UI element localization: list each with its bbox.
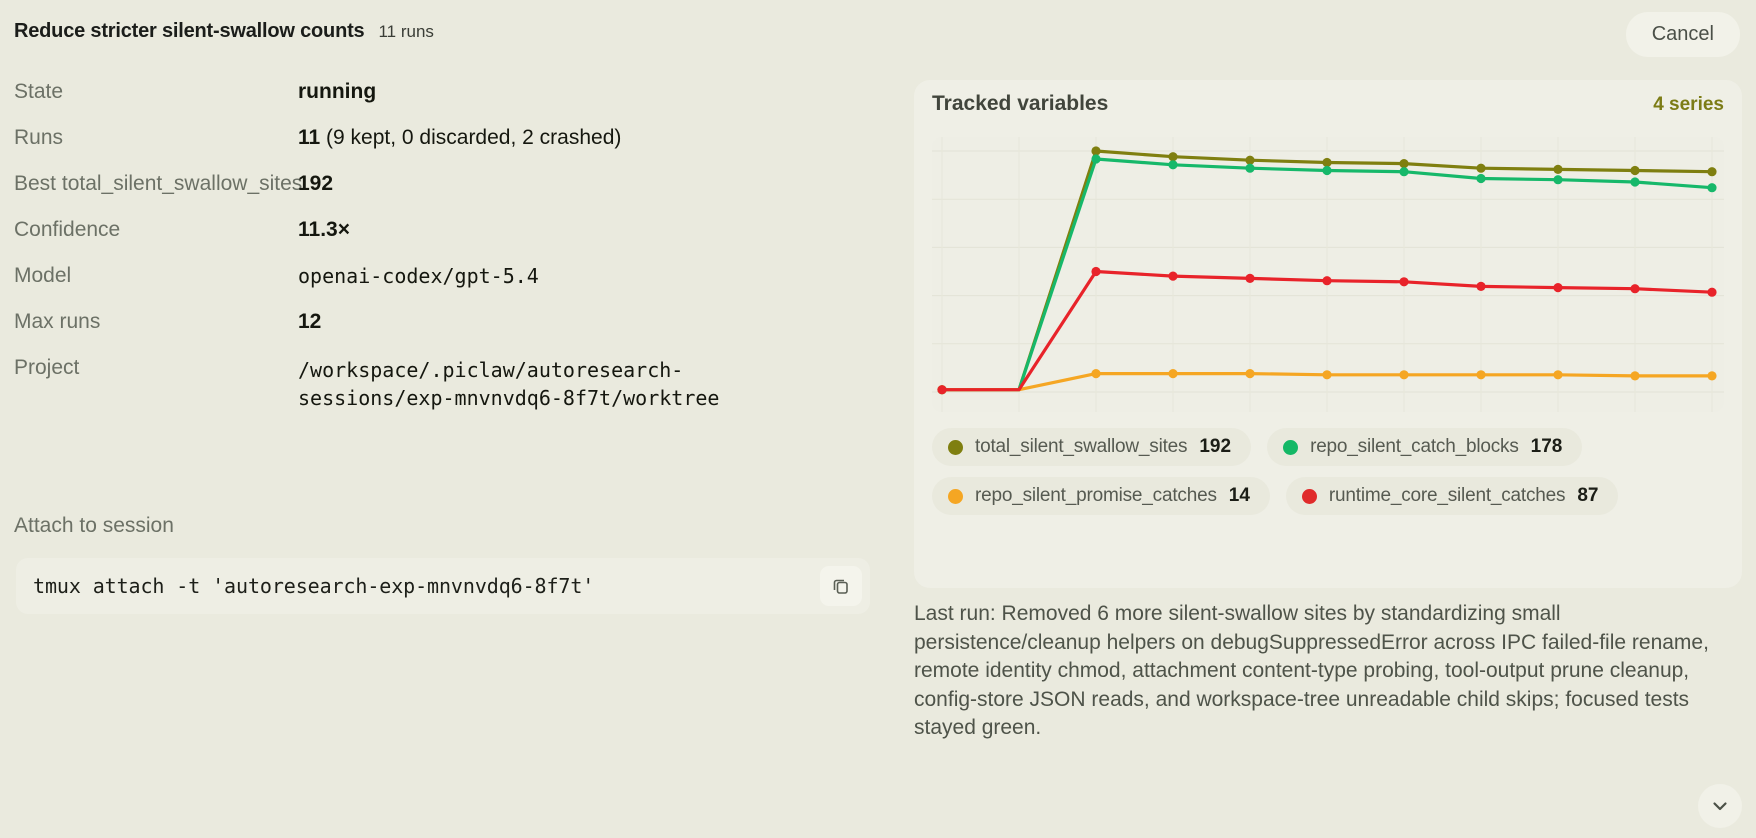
detail-row-model: Model openai-codex/gpt-5.4 [14, 264, 880, 310]
detail-value-max-runs: 12 [298, 310, 321, 334]
chart-point [1322, 370, 1331, 379]
legend-color-dot [1283, 440, 1298, 455]
chart-point [1399, 159, 1408, 168]
legend-color-dot [948, 489, 963, 504]
chart-point [1091, 146, 1100, 155]
chart-point [1630, 166, 1639, 175]
legend-chip[interactable]: total_silent_swallow_sites192 [932, 428, 1251, 466]
detail-key: Best total_silent_swallow_sites [14, 172, 302, 196]
chart-point [1476, 174, 1485, 183]
chart-point [1245, 164, 1254, 173]
detail-row-project: Project /workspace/.piclaw/autoresearch-… [14, 356, 880, 448]
chart-point [1553, 175, 1562, 184]
details-grid: State running Runs 11 (9 kept, 0 discard… [0, 80, 880, 448]
cancel-button[interactable]: Cancel [1626, 12, 1740, 57]
detail-key: Runs [14, 126, 63, 150]
detail-row-best-metric: Best total_silent_swallow_sites 192 [14, 172, 880, 218]
detail-value-project: /workspace/.piclaw/autoresearch-sessions… [298, 356, 798, 413]
legend-series-value: 87 [1577, 485, 1598, 507]
chart-header: Tracked variables 4 series [932, 92, 1724, 116]
detail-key: State [14, 80, 63, 104]
chart-point [1553, 283, 1562, 292]
chart-point [1322, 276, 1331, 285]
chart-point [1476, 164, 1485, 173]
chart-point [1399, 370, 1408, 379]
detail-key: Model [14, 264, 71, 288]
attach-command-box[interactable]: tmux attach -t 'autoresearch-exp-mnvnvdq… [16, 558, 870, 614]
detail-key: Max runs [14, 310, 100, 334]
chart-point [1399, 167, 1408, 176]
chart-point [1707, 288, 1716, 297]
chart-point [1707, 167, 1716, 176]
series-count-label: 4 series [1653, 94, 1724, 116]
chart-point [1091, 154, 1100, 163]
detail-row-max-runs: Max runs 12 [14, 310, 880, 356]
chart-point [1630, 284, 1639, 293]
detail-value-best-metric: 192 [298, 172, 333, 196]
attach-command-text: tmux attach -t 'autoresearch-exp-mnvnvdq… [16, 574, 594, 598]
chart-point [1245, 156, 1254, 165]
tracked-variables-card: Tracked variables 4 series total_silent_… [914, 80, 1742, 588]
run-count-badge: 11 runs [378, 22, 433, 42]
chart-legend: total_silent_swallow_sites192repo_silent… [932, 428, 1724, 515]
details-column: State running Runs 11 (9 kept, 0 discard… [0, 80, 880, 448]
legend-color-dot [1302, 489, 1317, 504]
page-title: Reduce stricter silent-swallow counts [14, 20, 364, 43]
chart-point [1707, 371, 1716, 380]
chart-point [1322, 158, 1331, 167]
legend-chip[interactable]: repo_silent_catch_blocks178 [1267, 428, 1582, 466]
attach-to-session-label: Attach to session [14, 514, 174, 538]
detail-value-state: running [298, 80, 376, 104]
chart-title: Tracked variables [932, 92, 1108, 116]
legend-chip[interactable]: repo_silent_promise_catches14 [932, 477, 1270, 515]
detail-row-runs: Runs 11 (9 kept, 0 discarded, 2 crashed) [14, 126, 880, 172]
detail-key: Confidence [14, 218, 120, 242]
experiment-detail-page: Reduce stricter silent-swallow counts 11… [0, 0, 1756, 838]
chart-point [1399, 277, 1408, 286]
chart-point [1322, 166, 1331, 175]
legend-series-name: runtime_core_silent_catches [1329, 485, 1565, 507]
chart-point [937, 385, 946, 394]
legend-series-name: repo_silent_catch_blocks [1310, 436, 1519, 458]
chart-svg [932, 137, 1724, 412]
chart-point [1168, 152, 1177, 161]
chart-point [1553, 165, 1562, 174]
legend-series-value: 178 [1531, 436, 1563, 458]
title-row: Reduce stricter silent-swallow counts 11… [14, 20, 434, 43]
detail-value-confidence: 11.3× [298, 218, 350, 242]
chart-point [1091, 369, 1100, 378]
runs-number: 11 [298, 126, 320, 149]
line-chart-plot[interactable] [932, 137, 1724, 412]
chart-point [1630, 177, 1639, 186]
legend-series-value: 192 [1199, 436, 1231, 458]
chart-point [1245, 274, 1254, 283]
chart-point [1630, 371, 1639, 380]
detail-row-state: State running [14, 80, 880, 126]
runs-breakdown: (9 kept, 0 discarded, 2 crashed) [320, 126, 621, 149]
last-run-summary: Last run: Removed 6 more silent-swallow … [914, 600, 1734, 743]
detail-value-model: openai-codex/gpt-5.4 [298, 264, 539, 288]
chevron-down-icon[interactable] [1698, 784, 1742, 828]
legend-series-name: total_silent_swallow_sites [975, 436, 1187, 458]
legend-color-dot [948, 440, 963, 455]
chart-point [1245, 369, 1254, 378]
detail-row-confidence: Confidence 11.3× [14, 218, 880, 264]
chart-point [1168, 272, 1177, 281]
chart-point [1476, 370, 1485, 379]
chart-point [1168, 369, 1177, 378]
chart-point [1168, 160, 1177, 169]
legend-chip[interactable]: runtime_core_silent_catches87 [1286, 477, 1619, 515]
copy-icon[interactable] [820, 566, 862, 606]
chart-point [1476, 282, 1485, 291]
chart-point [1091, 267, 1100, 276]
legend-series-value: 14 [1229, 485, 1250, 507]
chart-point [1553, 370, 1562, 379]
detail-value-runs: 11 (9 kept, 0 discarded, 2 crashed) [298, 126, 621, 150]
legend-series-name: repo_silent_promise_catches [975, 485, 1217, 507]
chart-point [1707, 183, 1716, 192]
page-header: Reduce stricter silent-swallow counts 11… [0, 0, 1756, 68]
detail-key: Project [14, 356, 79, 380]
